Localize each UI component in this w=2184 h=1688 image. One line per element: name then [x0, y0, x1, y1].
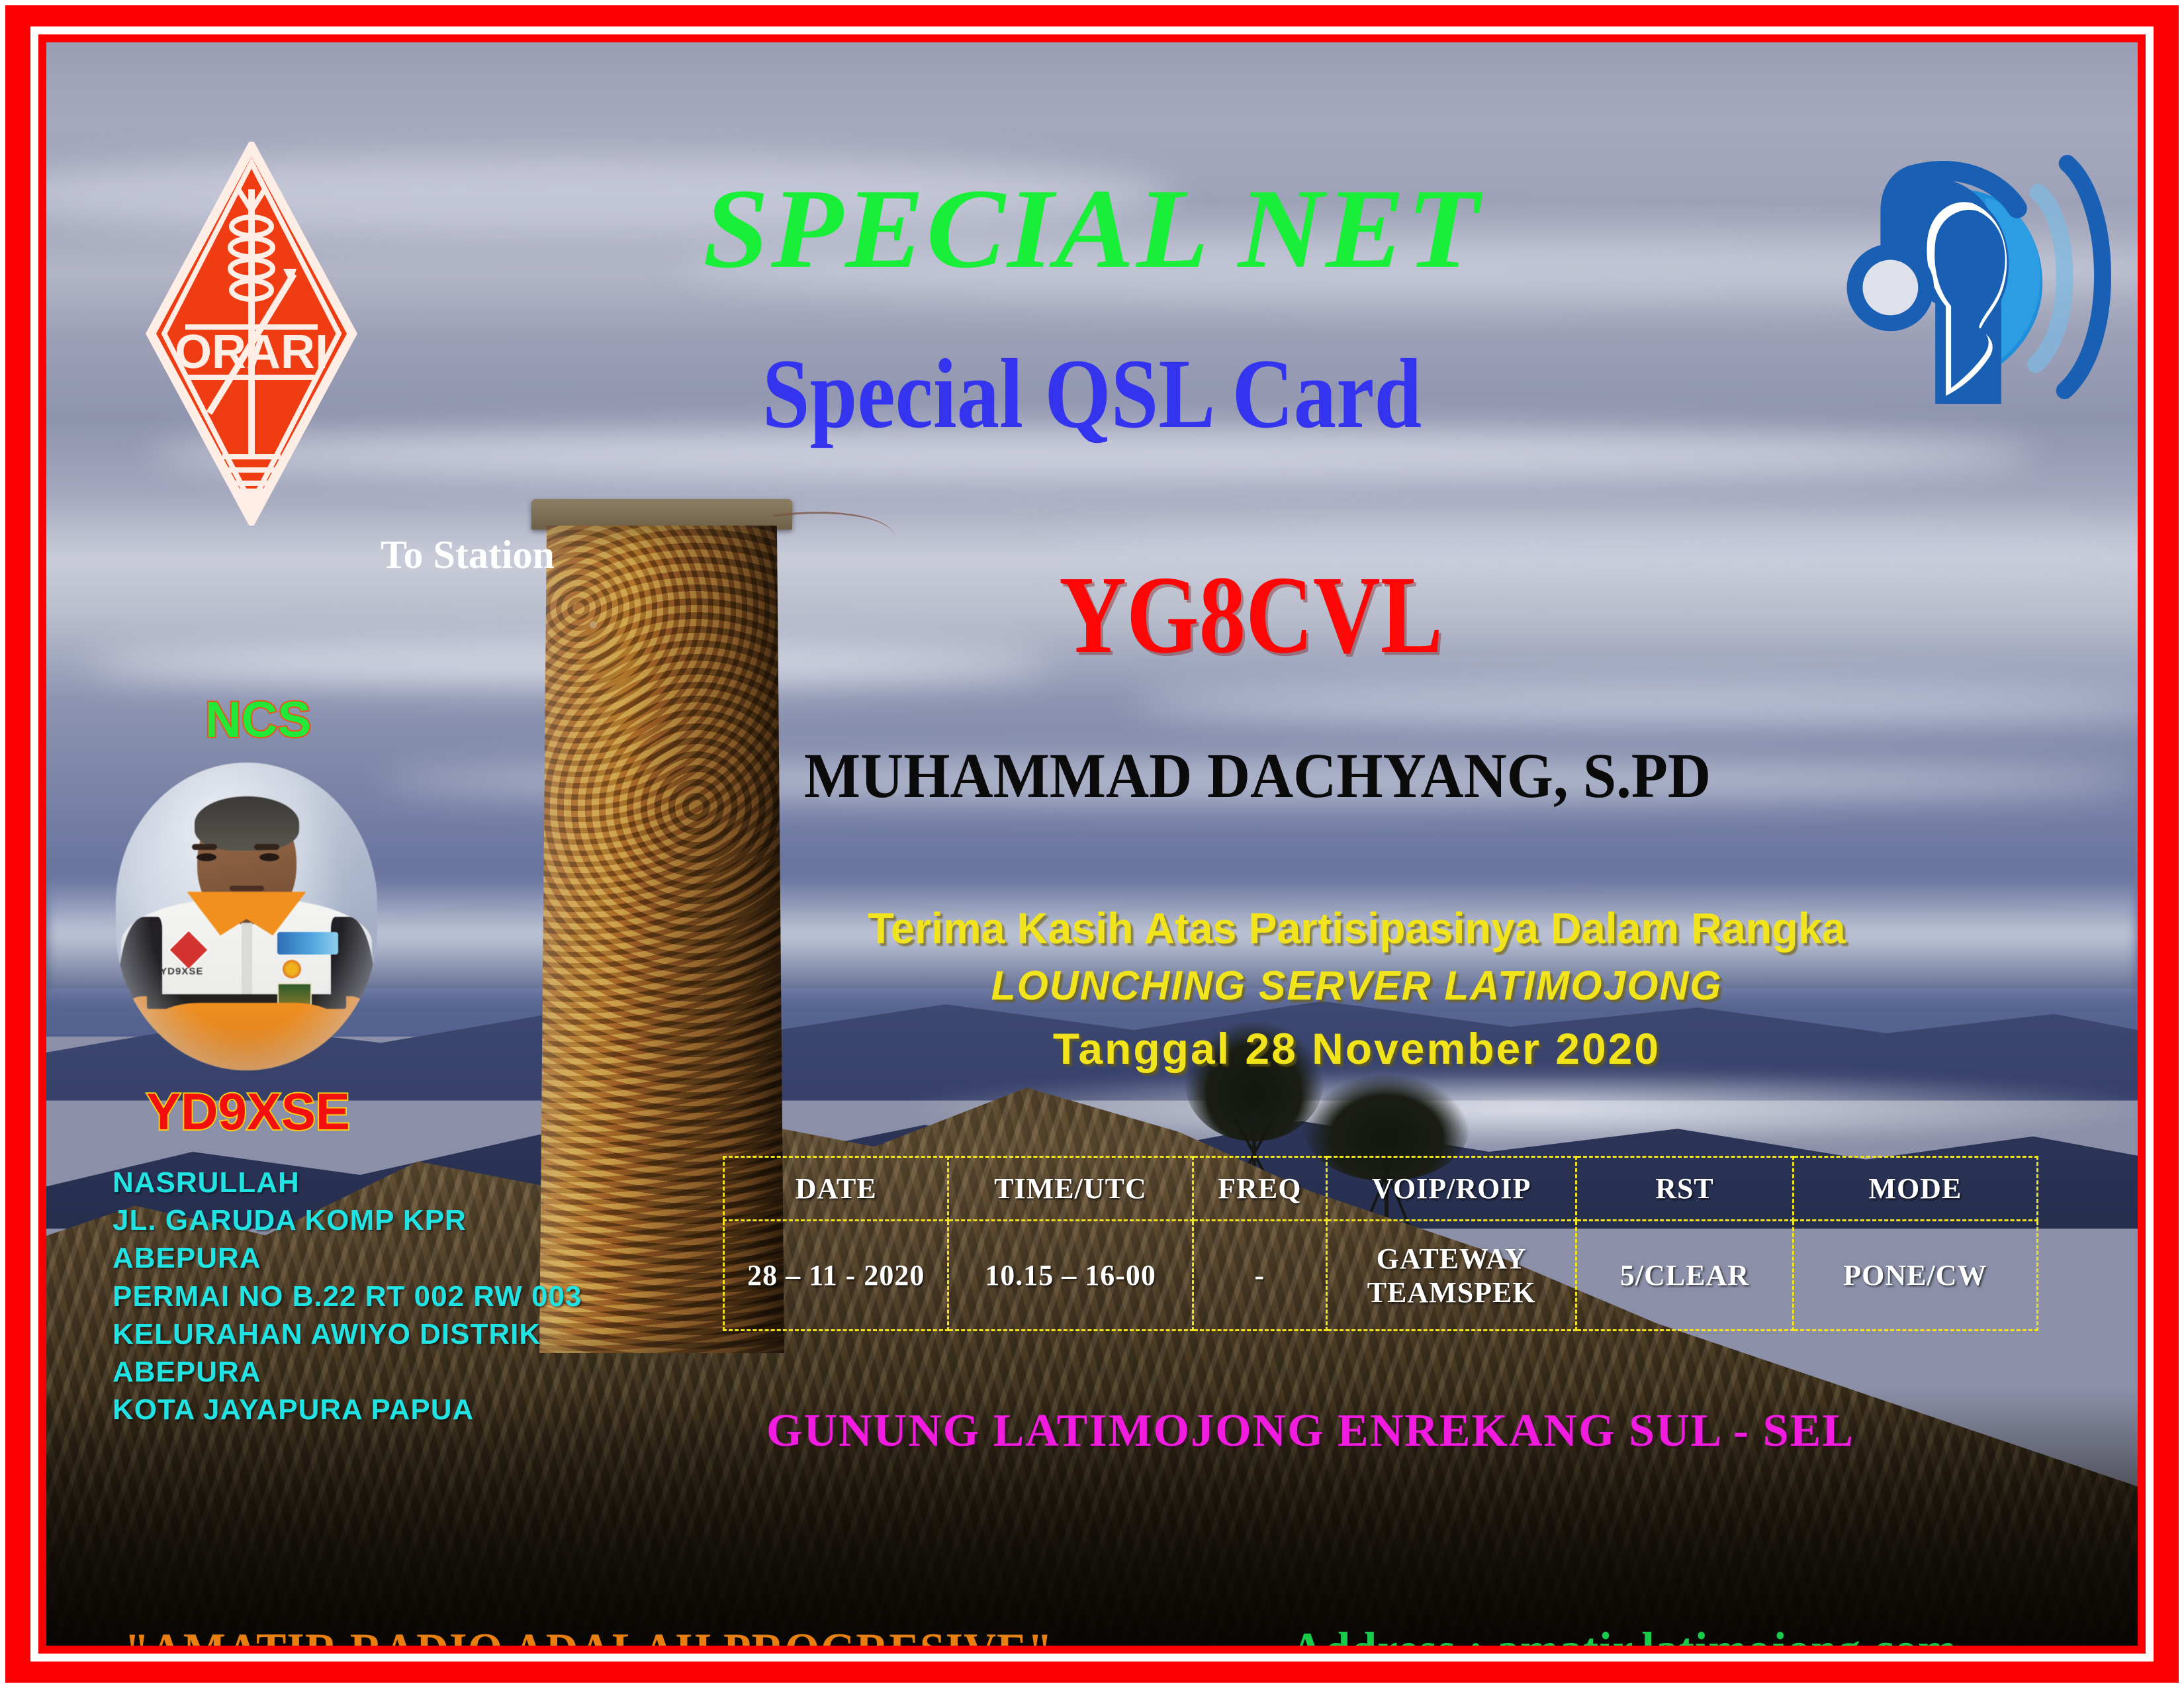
- address-line: KELURAHAN AWIYO DISTRIK: [113, 1315, 582, 1353]
- column-header-voip: VOIP/ROIP: [1327, 1157, 1576, 1221]
- cell-voip-line-1: GATEWAY: [1328, 1242, 1575, 1276]
- footer-web-address: Address : amatir.latimojong.com: [1291, 1622, 1957, 1646]
- column-header-rst: RST: [1576, 1157, 1794, 1221]
- operator-name: MUHAMMAD DACHYANG, S.PD: [710, 744, 1805, 808]
- location-line: GUNUNG LATIMOJONG ENREKANG SUL - SEL: [682, 1405, 1939, 1458]
- cell-time: 10.15 – 16-00: [948, 1221, 1193, 1331]
- page-subtitle: Special QSL Card: [193, 344, 1991, 444]
- thanks-line-2-event: LOUNCHING SERVER LATIMOJONG: [805, 962, 1908, 1009]
- ncs-label: NCS: [159, 691, 357, 749]
- cell-rst: 5/CLEAR: [1576, 1221, 1794, 1331]
- address-line: PERMAI NO B.22 RT 002 RW 003: [113, 1278, 582, 1315]
- photo-vignette: [116, 763, 377, 1070]
- pillar-cap: [531, 499, 792, 530]
- table-row: 28 – 11 - 2020 10.15 – 16-00 - GATEWAY T…: [724, 1221, 2038, 1331]
- address-line: ABEPURA: [113, 1353, 582, 1391]
- address-line: NASRULLAH: [113, 1164, 582, 1201]
- qso-log-table: DATE TIME/UTC FREQ VOIP/ROIP RST MODE 28…: [723, 1156, 2038, 1331]
- page-title: SPECIAL NET: [46, 172, 2138, 286]
- sender-address-block: NASRULLAH JL. GARUDA KOMP KPR ABEPURA PE…: [113, 1164, 582, 1429]
- table-header-row: DATE TIME/UTC FREQ VOIP/ROIP RST MODE: [724, 1157, 2038, 1221]
- address-line: KOTA JAYAPURA PAPUA: [113, 1391, 582, 1429]
- cell-mode: PONE/CW: [1793, 1221, 2037, 1331]
- to-station-label: To Station: [381, 532, 555, 578]
- thanks-line-3-date: Tanggal 28 November 2020: [794, 1023, 1919, 1074]
- cell-date: 28 – 11 - 2020: [724, 1221, 948, 1331]
- cell-voip: GATEWAY TEAMSPEK: [1327, 1221, 1576, 1331]
- ncs-callsign: YD9XSE: [116, 1082, 381, 1142]
- address-line: JL. GARUDA KOMP KPR: [113, 1201, 582, 1239]
- column-header-freq: FREQ: [1193, 1157, 1326, 1221]
- thanks-line-1: Terima Kasih Atas Partisipasinya Dalam R…: [805, 903, 1908, 953]
- qsl-card-frame: ORARI: [0, 0, 2184, 1688]
- operator-photo: YD9XSE: [116, 763, 377, 1070]
- cloud-band: [1134, 684, 2138, 722]
- cell-freq: -: [1193, 1221, 1326, 1331]
- column-header-date: DATE: [724, 1157, 948, 1221]
- column-header-time: TIME/UTC: [948, 1157, 1193, 1221]
- background-photo-mountain-scene: ORARI: [46, 42, 2138, 1646]
- column-header-mode: MODE: [1793, 1157, 2037, 1221]
- cell-voip-line-2: TEAMSPEK: [1328, 1276, 1575, 1309]
- footer-motto: "AMATIR RADIO ADALAH PROGRESIVE": [124, 1623, 1053, 1646]
- address-line: ABEPURA: [113, 1239, 582, 1277]
- station-callsign: YG8CVL: [884, 559, 1617, 671]
